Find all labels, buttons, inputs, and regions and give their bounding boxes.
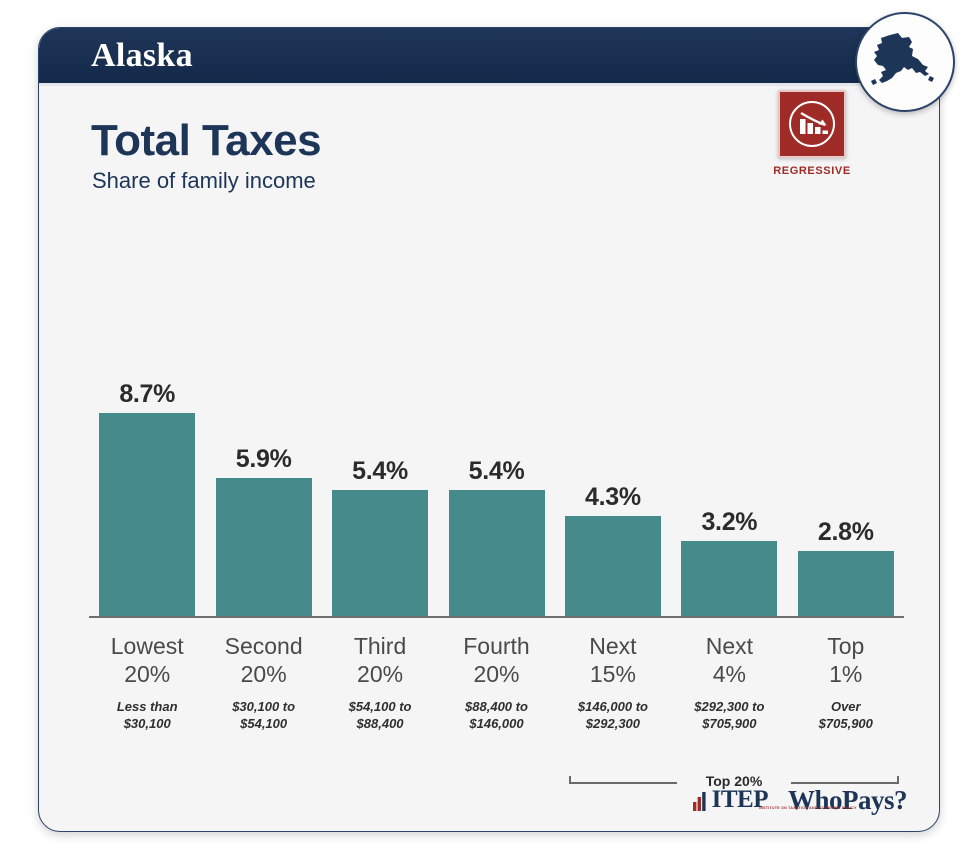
bar-value-label: 5.4%: [429, 457, 563, 486]
x-axis-group-name: Second20%: [205, 632, 321, 688]
x-axis-label-cell: Next4%$292,300 to$705,900: [671, 632, 787, 732]
screenshot-root: Alaska Total Taxes Share of family incom…: [0, 0, 975, 858]
bar-chart: 8.7%5.9%5.4%5.4%4.3%3.2%2.8%: [89, 358, 904, 618]
bar-group: 4.3%: [565, 516, 661, 616]
state-tax-card: Alaska Total Taxes Share of family incom…: [38, 27, 940, 832]
x-axis-group-name: Fourth20%: [438, 632, 554, 688]
bar-value-label: 2.8%: [779, 518, 913, 547]
bar-group: 5.4%: [332, 490, 428, 616]
bar-value-label: 4.3%: [546, 483, 680, 512]
x-axis-income-range: $30,100 to$54,100: [205, 698, 321, 732]
footer-logos: ITEP INSTITUTE ON TAXATION AND ECONOMIC …: [717, 780, 907, 820]
x-axis-label-cell: Second20%$30,100 to$54,100: [205, 632, 321, 732]
x-axis-label-cell: Third20%$54,100 to$88,400: [322, 632, 438, 732]
bar: [565, 516, 661, 616]
regressive-badge: REGRESSIVE: [757, 90, 867, 177]
state-title: Alaska: [91, 37, 193, 75]
x-axis-label-cell: Lowest20%Less than$30,100: [89, 632, 205, 732]
x-axis-group-name: Top1%: [788, 632, 904, 688]
alaska-map-icon: [855, 12, 955, 112]
x-axis-group-name: Third20%: [322, 632, 438, 688]
x-axis-line: [89, 616, 904, 618]
x-axis-label-cell: Top1%Over$705,900: [788, 632, 904, 732]
page-subtitle: Share of family income: [92, 168, 316, 194]
x-axis-income-range: Less than$30,100: [89, 698, 205, 732]
bracket-line-left: [569, 782, 677, 784]
bar: [798, 551, 894, 616]
bar: [332, 490, 428, 616]
regressive-label: REGRESSIVE: [757, 165, 867, 177]
x-axis-income-range: $88,400 to$146,000: [438, 698, 554, 732]
x-axis-income-range: $292,300 to$705,900: [671, 698, 787, 732]
x-axis-group-name: Next4%: [671, 632, 787, 688]
bar: [216, 478, 312, 616]
chart-plot-area: 8.7%5.9%5.4%5.4%4.3%3.2%2.8%: [89, 386, 904, 618]
bar-value-label: 3.2%: [662, 508, 796, 537]
bar-group: 5.4%: [449, 490, 545, 616]
bar: [99, 413, 195, 616]
x-axis-income-range: $146,000 to$292,300: [555, 698, 671, 732]
x-axis-label-cell: Fourth20%$88,400 to$146,000: [438, 632, 554, 732]
x-axis-income-range: $54,100 to$88,400: [322, 698, 438, 732]
bar-value-label: 8.7%: [80, 380, 214, 409]
x-axis-label-cell: Next15%$146,000 to$292,300: [555, 632, 671, 732]
itep-logo: ITEP INSTITUTE ON TAXATION AND ECONOMIC …: [693, 789, 768, 811]
x-axis-group-name: Next15%: [555, 632, 671, 688]
bar-group: 5.9%: [216, 478, 312, 616]
bar-group: 3.2%: [681, 541, 777, 616]
bar-value-label: 5.4%: [313, 457, 447, 486]
x-axis-income-range: Over$705,900: [788, 698, 904, 732]
bar: [681, 541, 777, 616]
itep-tagline: INSTITUTE ON TAXATION AND ECONOMIC POLIC…: [759, 806, 857, 810]
bar: [449, 490, 545, 616]
itep-bars-icon: [693, 789, 709, 811]
whopays-wordmark: WhoPays?: [788, 785, 907, 816]
bar-value-label: 5.9%: [196, 445, 330, 474]
header-separator: [39, 83, 939, 86]
x-axis-labels: Lowest20%Less than$30,100Second20%$30,10…: [89, 632, 904, 772]
bar-group: 2.8%: [798, 551, 894, 616]
bar-group: 8.7%: [99, 413, 195, 616]
declining-bars-arrow-icon: [778, 90, 846, 158]
page-title: Total Taxes: [91, 116, 321, 166]
x-axis-group-name: Lowest20%: [89, 632, 205, 688]
